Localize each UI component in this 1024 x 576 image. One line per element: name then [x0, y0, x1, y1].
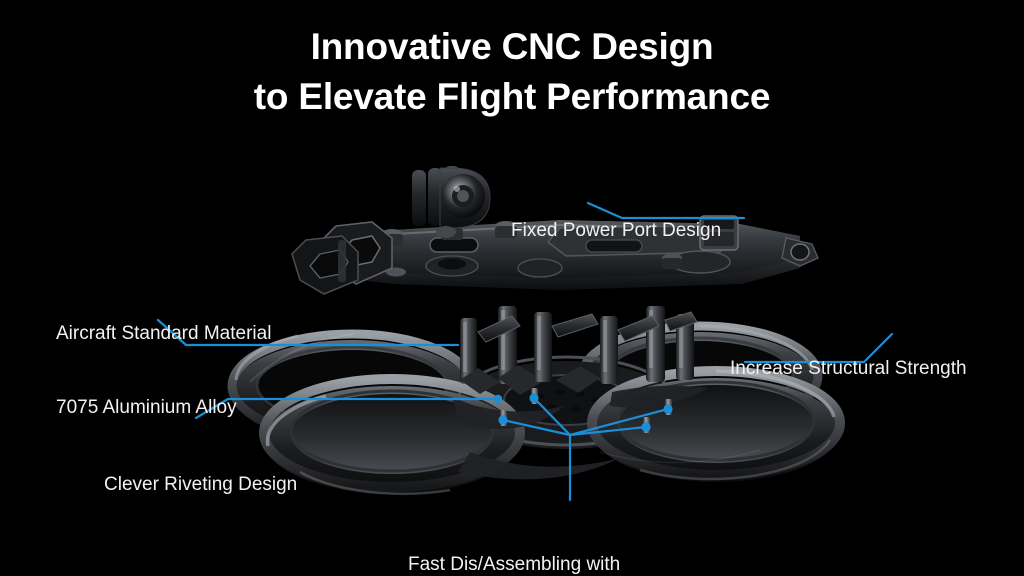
page-title-line-1: Innovative CNC Design — [0, 22, 1024, 72]
callout-increase-structural-strength: Increase Structural Strength — [730, 308, 967, 431]
leader-screw-2 — [503, 420, 570, 435]
product-feature-slide: Innovative CNC Design to Elevate Flight … — [0, 0, 1024, 576]
page-title-line-2: to Elevate Flight Performance — [0, 72, 1024, 122]
riveting-endpoint-dot — [494, 395, 502, 403]
screw-marker-3 — [663, 404, 672, 413]
leader-screw-3 — [570, 409, 668, 435]
callout-line: Increase Structural Strength — [730, 357, 967, 382]
leader-screw-1 — [534, 398, 570, 435]
callout-line: Clever Riveting Design — [104, 473, 297, 498]
callout-fixed-power-port: Fixed Power Port Design — [511, 170, 721, 293]
screw-marker-dots — [494, 393, 673, 431]
callout-line: 7075 Aluminium Alloy — [56, 396, 271, 421]
callout-clever-riveting-design: Clever Riveting Design — [104, 424, 297, 547]
callout-line: Aircraft Standard Material — [56, 322, 271, 347]
screw-marker-4 — [641, 422, 650, 431]
screw-marker-1 — [529, 393, 538, 402]
screw-marker-2 — [498, 415, 507, 424]
callout-line: Fixed Power Port Design — [511, 219, 721, 244]
callout-fast-disassembling: Fast Dis/Assembling with Just 4 screws — [408, 504, 620, 576]
page-title: Innovative CNC Design to Elevate Flight … — [0, 22, 1024, 123]
callout-line: Fast Dis/Assembling with — [408, 553, 620, 576]
